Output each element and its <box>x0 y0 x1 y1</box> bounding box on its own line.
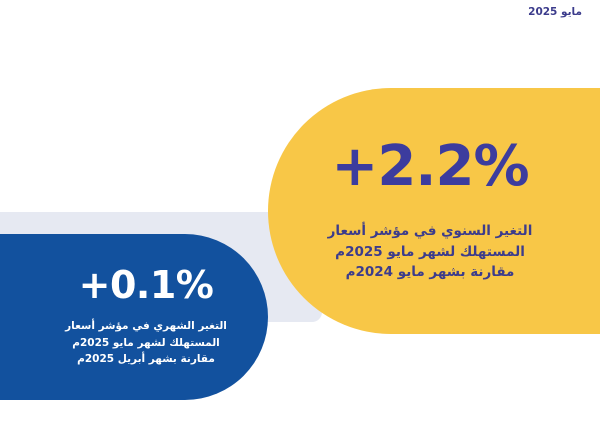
annual-change-value: +2.2% <box>331 139 528 195</box>
monthly-caption-line-1: التغير الشهري في مؤشر أسعار <box>65 318 227 335</box>
date-label: مايو 2025 <box>528 6 582 18</box>
infographic-canvas: مايو 2025 +2.2% التغير السنوي في مؤشر أس… <box>0 0 600 425</box>
monthly-change-card: +0.1% التغير الشهري في مؤشر أسعار المسته… <box>0 234 268 400</box>
annual-caption-line-2: المستهلك لشهر مايو 2025م <box>328 242 533 263</box>
monthly-change-value: +0.1% <box>79 266 214 304</box>
monthly-change-caption: التغير الشهري في مؤشر أسعار المستهلك لشه… <box>65 318 227 368</box>
annual-caption-line-1: التغير السنوي في مؤشر أسعار <box>328 221 533 242</box>
annual-change-caption: التغير السنوي في مؤشر أسعار المستهلك لشه… <box>328 221 533 284</box>
monthly-caption-line-2: المستهلك لشهر مايو 2025م <box>65 335 227 352</box>
annual-caption-line-3: مقارنة بشهر مايو 2024م <box>328 262 533 283</box>
annual-change-card: +2.2% التغير السنوي في مؤشر أسعار المسته… <box>268 88 600 334</box>
monthly-caption-line-3: مقارنة بشهر أبريل 2025م <box>65 351 227 368</box>
